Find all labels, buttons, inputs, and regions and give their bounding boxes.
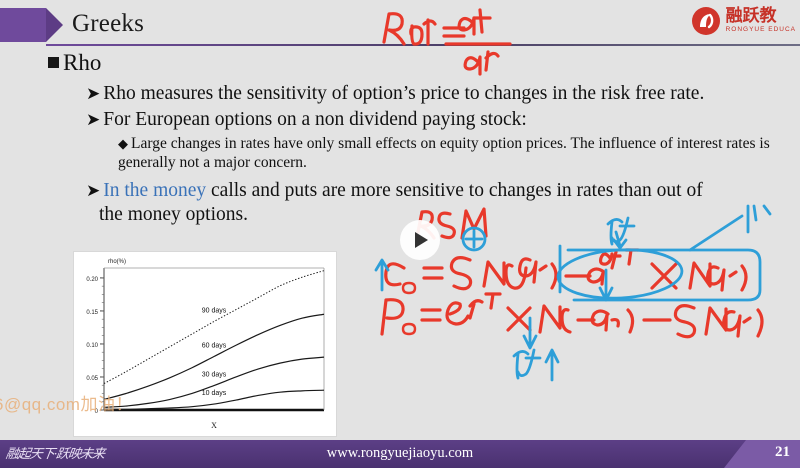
red-ink-group: [382, 10, 762, 337]
footer-url: www.rongyuejiaoyu.com: [0, 445, 800, 462]
highlight-rest: calls and puts are more sensitive to cha…: [206, 180, 703, 201]
slide-canvas: Greeks 融跃教 RONGYUE EDUCA Rho ➤Rho measur…: [0, 0, 800, 468]
series-90-days: [104, 271, 324, 384]
bullet-item-1: ➤Rho measures the sensitivity of option’…: [86, 82, 786, 106]
topic-label: Rho: [63, 50, 101, 75]
series-label-10-days: 10 days: [202, 390, 227, 397]
brand-name-en: RONGYUE EDUCA: [726, 27, 796, 34]
title-divider: [46, 44, 800, 46]
series-60-days: [104, 314, 324, 399]
footer-bar: 融起天下·跃映未来 www.rongyuejiaoyu.com 21: [0, 440, 800, 468]
svg-text:0.10: 0.10: [86, 343, 98, 349]
bullet-text-2: For European options on a non dividend p…: [103, 109, 527, 130]
arrow-bullet-icon: ➤: [86, 108, 100, 132]
title-accent-chevron: [46, 8, 63, 42]
sub-bullet-text: Large changes in rates have only small e…: [118, 135, 770, 171]
svg-text:0.15: 0.15: [86, 310, 98, 316]
title-accent-block: [0, 8, 46, 42]
series-30-days: [104, 357, 324, 407]
diamond-bullet-icon: ◆: [118, 134, 128, 153]
brand-logo: 融跃教 RONGYUE EDUCA: [691, 6, 796, 36]
sub-bullet-item: ◆Large changes in rates have only small …: [118, 134, 778, 172]
topic-bullet: Rho: [48, 50, 101, 76]
brand-name-cn: 融跃教: [726, 8, 796, 25]
page-number: 21: [775, 444, 790, 461]
series-label-60-days: 60 days: [202, 343, 227, 350]
svg-text:0.20: 0.20: [86, 277, 98, 283]
watermark-text: 6@qq.com加油！: [0, 390, 133, 415]
svg-text:0.05: 0.05: [86, 376, 98, 382]
arrow-bullet-icon: ➤: [86, 82, 100, 106]
rongyue-mark-icon: [691, 6, 721, 36]
play-button[interactable]: [400, 220, 440, 260]
plus-circle-annotation: [463, 228, 485, 250]
bullet-item-3: ➤In the money calls and puts are more se…: [86, 179, 766, 227]
svg-text:rho(%): rho(%): [108, 259, 126, 265]
arrow-bullet-icon: ➤: [86, 179, 100, 203]
play-triangle-icon: [415, 232, 428, 248]
highlight-phrase: In the money: [103, 180, 206, 201]
bullet-text-1: Rho measures the sensitivity of option’s…: [103, 83, 704, 104]
series-label-30-days: 30 days: [202, 372, 227, 379]
page-title: Greeks: [72, 8, 144, 40]
bullet-item-2: ➤For European options on a non dividend …: [86, 108, 786, 132]
square-bullet-icon: [48, 57, 59, 68]
series-label-90-days: 90 days: [202, 307, 227, 314]
svg-text:X: X: [211, 421, 217, 430]
